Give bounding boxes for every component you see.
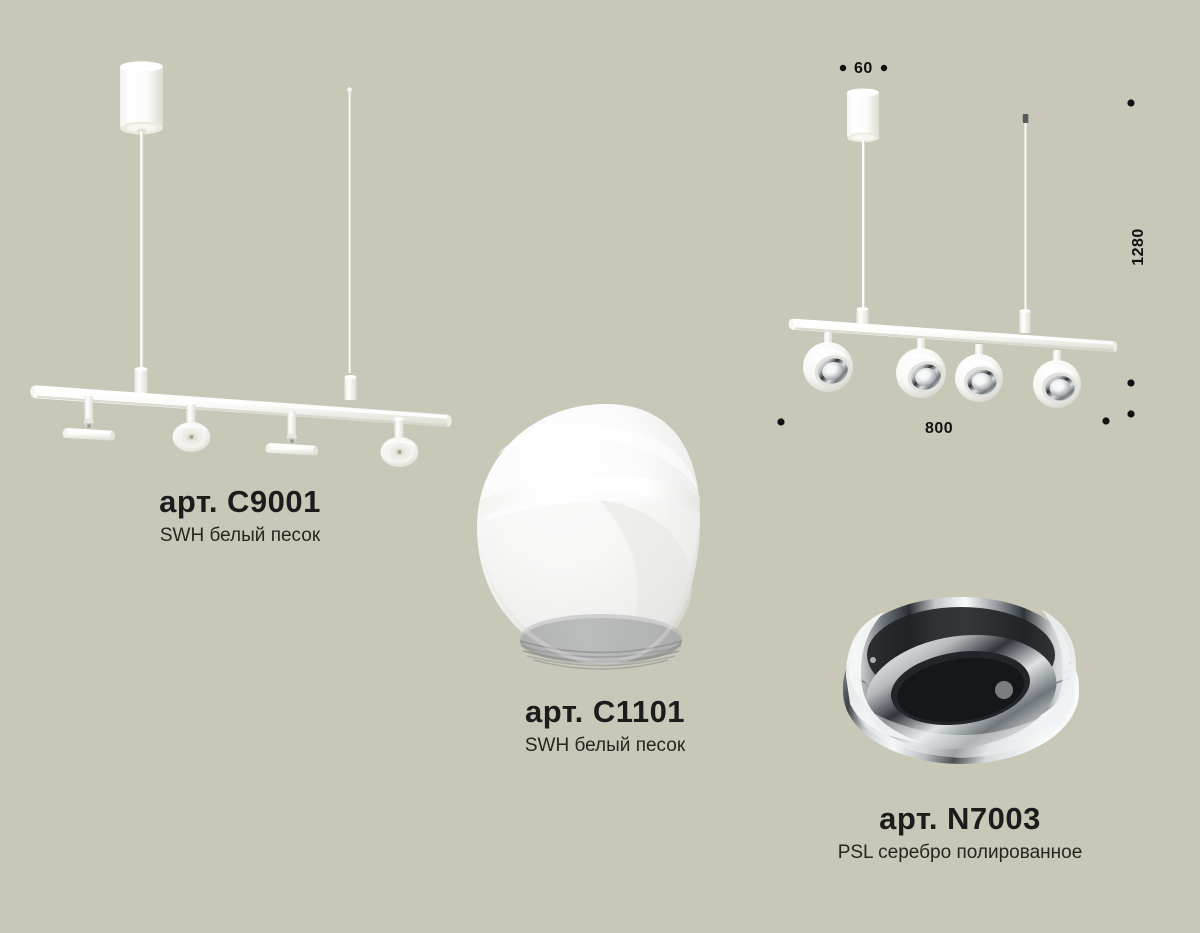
product-spec-canvas: 60 1280 800 арт. C9001 SWH белый песок а…	[0, 0, 1200, 933]
product-finish-c9001: SWH белый песок	[40, 526, 440, 547]
assembly-illustration	[777, 65, 1134, 426]
product-article-n7003: арт. N7003	[760, 803, 1160, 836]
stem-collar-left	[135, 367, 148, 393]
dimension-label-width-track: 800	[925, 420, 953, 438]
assembly-canopy-icon	[847, 89, 879, 143]
suspension-cable-left	[140, 131, 142, 373]
product-article-c1101: арт. C1101	[405, 696, 805, 729]
assembly-stem-collar-right	[1019, 309, 1030, 333]
product-label-n7003: арт. N7003 PSL серебро полированное	[760, 803, 1160, 863]
illustration-layer	[0, 0, 1200, 933]
product-label-c9001: арт. C9001 SWH белый песок	[40, 486, 440, 546]
spot-mount-3	[266, 411, 318, 456]
dimension-label-width-top: 60	[854, 60, 873, 78]
assembly-spot-head-1	[803, 332, 855, 392]
assembly-spot-head-2	[896, 338, 948, 398]
assembly-spot-head-3	[955, 344, 1003, 402]
dimension-label-height: 1280	[1130, 228, 1148, 266]
suspension-cable-right	[349, 90, 351, 373]
product-finish-n7003: PSL серебро полированное	[760, 843, 1160, 864]
canopy-cylinder-icon	[120, 61, 163, 134]
product-illustration-n7003	[843, 597, 1079, 764]
spot-mount-4	[381, 417, 419, 467]
stem-collar-right	[345, 375, 357, 400]
product-article-c9001: арт. C9001	[40, 486, 440, 519]
assembly-spot-head-4	[1033, 350, 1081, 408]
product-label-c1101: арт. C1101 SWH белый песок	[405, 696, 805, 756]
product-finish-c1101: SWH белый песок	[405, 736, 805, 757]
product-illustration-c9001	[30, 61, 451, 467]
product-illustration-c1101	[477, 404, 700, 669]
